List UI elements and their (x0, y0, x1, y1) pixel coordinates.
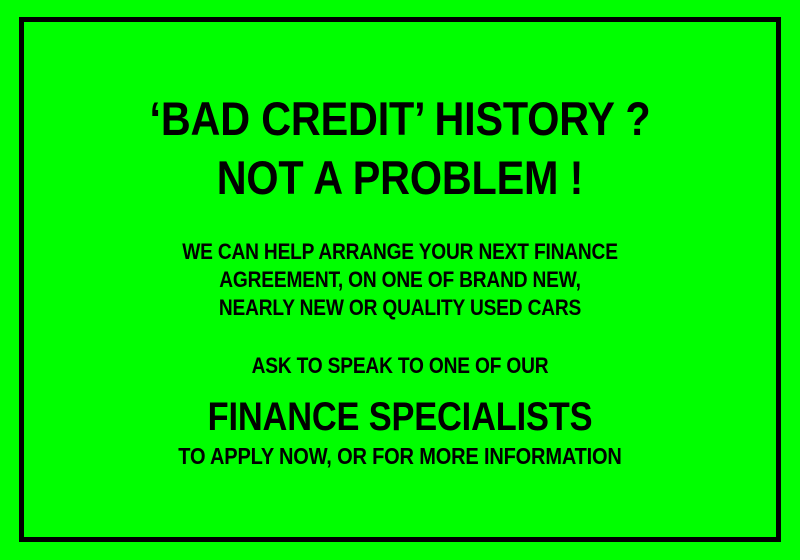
poster-content: ‘BAD CREDIT’ HISTORY ? NOT A PROBLEM ! W… (24, 22, 776, 537)
headline-line-2: NOT A PROBLEM ! (69, 154, 731, 201)
cta-footer-line: TO APPLY NOW, OR FOR MORE INFORMATION (73, 445, 727, 468)
cta-intro-line: ASK TO SPEAK TO ONE OF OUR (73, 355, 727, 377)
advertisement-poster: ‘BAD CREDIT’ HISTORY ? NOT A PROBLEM ! W… (0, 0, 800, 560)
body-line-2: AGREEMENT, ON ONE OF BRAND NEW, (73, 269, 727, 291)
headline-line-1: ‘BAD CREDIT’ HISTORY ? (69, 95, 731, 142)
cta-emphasis-line: FINANCE SPECIALISTS (77, 397, 724, 437)
body-line-3: NEARLY NEW OR QUALITY USED CARS (73, 297, 727, 319)
body-line-1: WE CAN HELP ARRANGE YOUR NEXT FINANCE (73, 241, 727, 263)
